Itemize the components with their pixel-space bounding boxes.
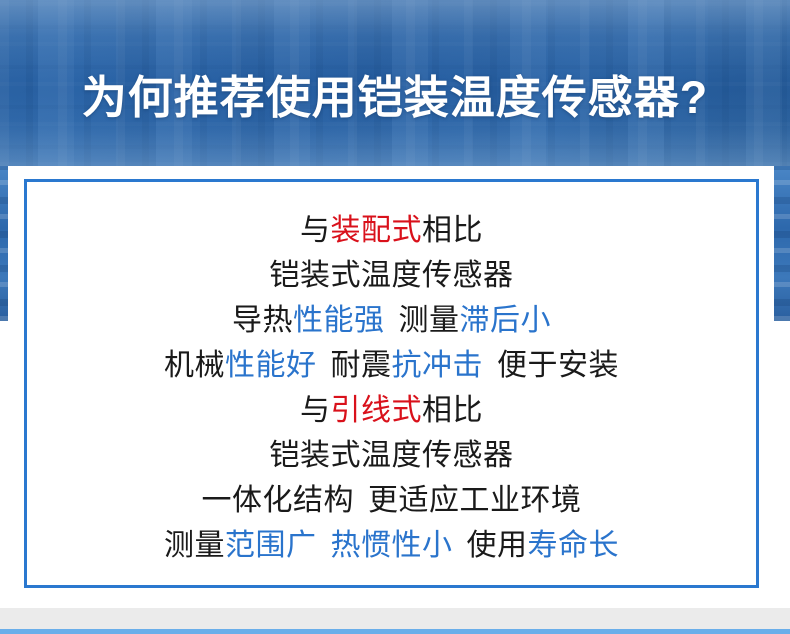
promo-page: 为何推荐使用铠装温度传感器? 与装配式相比铠装式温度传感器导热性能强测量滞后小机…: [0, 0, 790, 634]
text-segment-plain: 相比: [422, 214, 483, 247]
feature-line-range-life-advantages: 测量范围广热惯性小使用寿命长: [27, 523, 756, 568]
text-segment-plain: 测量: [164, 529, 225, 562]
text-segment-plain: 使用: [467, 529, 528, 562]
text-segment-plain: 相比: [422, 394, 483, 427]
text-segment-plain: 耐震: [331, 349, 392, 382]
text-segment-blue: 滞后小: [460, 304, 552, 337]
text-segment-blue: 抗冲击: [392, 349, 484, 382]
text-segment-blue: 性能强: [293, 304, 385, 337]
feature-line-product-name-1: 铠装式温度传感器: [27, 253, 756, 298]
text-segment-plain: 便于安装: [497, 349, 619, 382]
feature-line-compare-leadwire: 与引线式相比: [27, 388, 756, 433]
header-banner: 为何推荐使用铠装温度传感器?: [0, 0, 790, 166]
text-segment-blue: 热惯性小: [331, 529, 453, 562]
feature-line-list: 与装配式相比铠装式温度传感器导热性能强测量滞后小机械性能好耐震抗冲击便于安装与引…: [27, 208, 756, 568]
feature-line-product-name-2: 铠装式温度传感器: [27, 433, 756, 478]
text-segment-red: 引线式: [331, 394, 423, 427]
text-segment-plain: 更适应工业环境: [368, 484, 582, 517]
text-segment-blue: 范围广: [225, 529, 317, 562]
feature-line-structure-advantages: 一体化结构更适应工业环境: [27, 478, 756, 523]
footer-gray-band: [0, 608, 790, 629]
text-segment-plain: 铠装式温度传感器: [270, 439, 514, 472]
text-segment-plain: 与: [300, 214, 331, 247]
content-area: 与装配式相比铠装式温度传感器导热性能强测量滞后小机械性能好耐震抗冲击便于安装与引…: [8, 166, 774, 608]
feature-line-compare-assembled: 与装配式相比: [27, 208, 756, 253]
text-segment-plain: 与: [300, 394, 331, 427]
text-segment-blue: 寿命长: [528, 529, 620, 562]
feature-line-thermal-advantages: 导热性能强测量滞后小: [27, 298, 756, 343]
text-segment-plain: 测量: [399, 304, 460, 337]
text-segment-plain: 机械: [164, 349, 225, 382]
text-segment-plain: 铠装式温度传感器: [270, 259, 514, 292]
text-segment-red: 装配式: [331, 214, 423, 247]
text-segment-plain: 一体化结构: [202, 484, 355, 517]
footer-blue-band: [0, 629, 790, 634]
photo-sliver-left: [0, 166, 8, 321]
text-segment-plain: 导热: [232, 304, 293, 337]
bordered-content-box: 与装配式相比铠装式温度传感器导热性能强测量滞后小机械性能好耐震抗冲击便于安装与引…: [24, 179, 759, 588]
photo-sliver-right: [774, 166, 790, 321]
feature-line-mechanical-advantages: 机械性能好耐震抗冲击便于安装: [27, 343, 756, 388]
page-title: 为何推荐使用铠装温度传感器?: [0, 70, 790, 126]
text-segment-blue: 性能好: [225, 349, 317, 382]
